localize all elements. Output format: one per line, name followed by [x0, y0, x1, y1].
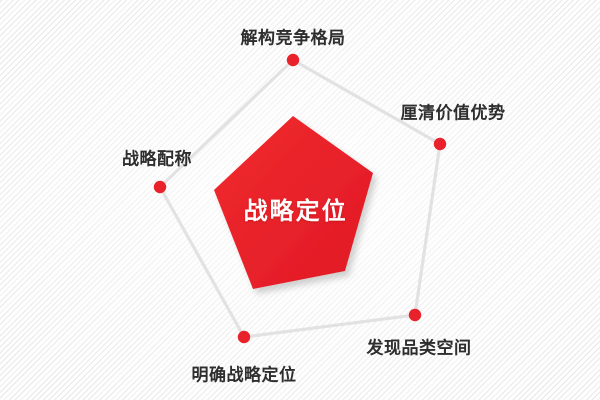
center-node-label: 战略定位	[244, 200, 348, 224]
vertex-dot-discover-category-space[interactable]	[409, 309, 421, 321]
vertex-dot-deconstruct-competitive-landscape[interactable]	[287, 54, 299, 66]
vertex-dot-define-strategic-position[interactable]	[238, 331, 250, 343]
axis-label-clarify-value-advantage: 厘清价值优势	[401, 105, 506, 122]
vertex-dot-strategic-alignment[interactable]	[154, 181, 166, 193]
pentagon-diagram-canvas: 解构竞争格局厘清价值优势发现品类空间明确战略定位战略配称 战略定位	[0, 0, 600, 400]
vertex-dot-clarify-value-advantage[interactable]	[434, 138, 446, 150]
axis-label-deconstruct-competitive-landscape: 解构竞争格局	[241, 30, 346, 47]
axis-label-discover-category-space: 发现品类空间	[367, 340, 472, 357]
axis-label-define-strategic-position: 明确战略定位	[192, 367, 297, 384]
axis-label-strategic-alignment: 战略配称	[122, 151, 192, 168]
